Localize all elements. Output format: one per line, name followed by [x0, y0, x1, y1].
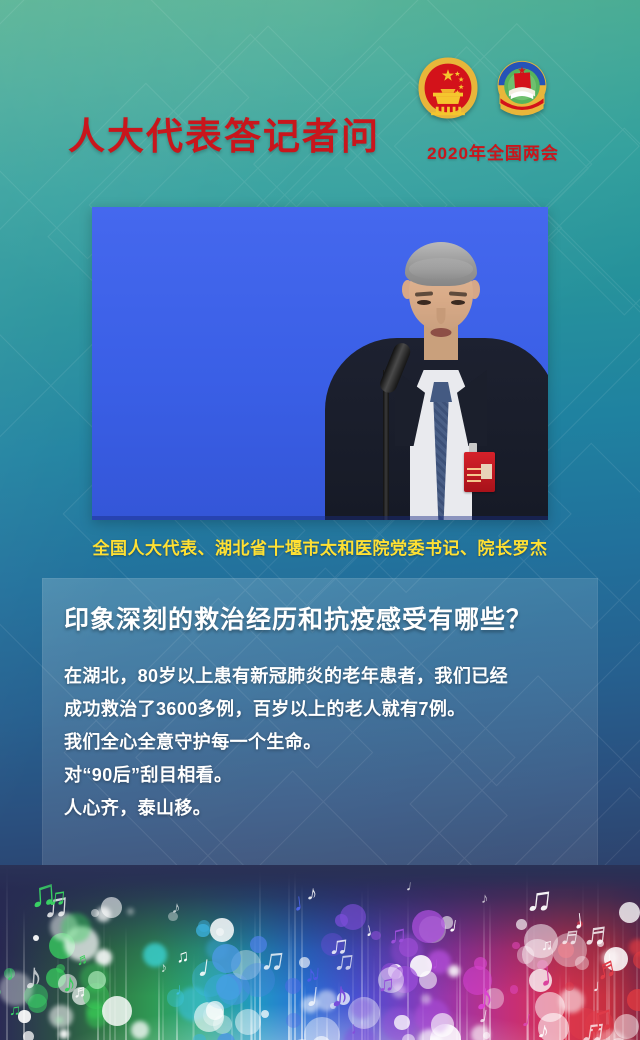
header: 人大代表答记者问 — [0, 0, 640, 200]
music-note-icon: ♫ — [175, 948, 190, 967]
bokeh-dot — [49, 1005, 73, 1029]
music-notes-footer: ♩♫♩♩♩♫♫♪♩♪♩♪♫♩♪♫♩♪♪♫♬♫♩♬♫♩♬♬♪♩♪♬♫♩♬♫♫♩♩♩… — [0, 865, 640, 1040]
light-beam — [114, 950, 116, 1040]
music-note-icon: ♩ — [538, 955, 576, 993]
music-note-icon: ♩ — [175, 981, 192, 998]
bokeh-dot — [206, 1001, 224, 1019]
bokeh-dot — [516, 919, 527, 930]
light-beam — [158, 958, 160, 1040]
mouth — [431, 328, 452, 337]
photo-subject-figure — [316, 220, 548, 520]
quote-line: 成功救治了3600多例，百岁以上的老人就有7例。 — [64, 693, 584, 726]
music-note-icon: ♩ — [571, 904, 601, 934]
music-note-icon: ♬ — [75, 951, 93, 969]
music-note-icon: ♬ — [72, 983, 90, 1001]
music-note-icon: ♬ — [592, 951, 626, 985]
bokeh-dot — [412, 910, 445, 943]
year-tag: 2020年全国两会 — [413, 139, 573, 164]
eye-right — [451, 300, 465, 305]
badge-line — [467, 480, 481, 482]
nose — [437, 308, 446, 324]
bokeh-dot — [614, 1014, 639, 1039]
music-note-icon: ♩ — [432, 955, 449, 972]
photo-caption: 全国人大代表、湖北省十堰市太和医院党委书记、院长罗杰 — [0, 534, 640, 559]
light-beam — [373, 955, 375, 1040]
bokeh-dot — [59, 1029, 69, 1039]
music-note-icon: ♩ — [447, 913, 472, 938]
quote-panel: 印象深刻的救治经历和抗疫感受有哪些？ 在湖北，80岁以上患有新冠肺炎的老年患者，… — [42, 578, 598, 874]
quote-body: 在湖北，80岁以上患有新冠肺炎的老年患者，我们已经成功救治了3600多例，百岁以… — [64, 660, 584, 825]
hair — [405, 242, 477, 286]
music-note-icon: ♫ — [258, 941, 288, 978]
music-note-icon: ♩ — [478, 1003, 505, 1030]
poster: 人大代表答记者问 — [0, 0, 640, 1040]
quote-line: 对“90后”刮目相看。 — [64, 759, 584, 792]
bokeh-dot — [510, 985, 519, 994]
music-note-icon: ♪ — [330, 977, 351, 1015]
eye-left — [417, 300, 431, 305]
bokeh-dot — [198, 920, 210, 932]
footer-top-fade — [0, 865, 640, 891]
music-note-icon: ♫ — [388, 923, 407, 949]
bokeh-dot — [627, 989, 640, 1010]
bokeh-dot — [23, 1031, 34, 1040]
photo-floor-line — [92, 516, 548, 520]
light-beam — [6, 865, 8, 1040]
quote-question: 印象深刻的救治经历和抗疫感受有哪些？ — [64, 600, 532, 636]
bokeh-dot — [419, 971, 437, 989]
quote-line: 在湖北，80岁以上患有新冠肺炎的老年患者，我们已经 — [64, 660, 584, 693]
national-emblem-of-china-icon — [418, 57, 478, 119]
bokeh-dot — [394, 1015, 409, 1030]
light-beam — [162, 975, 164, 1040]
music-note-icon: ♫ — [332, 946, 357, 977]
music-note-icon: ♪ — [305, 963, 317, 987]
badge-line — [467, 468, 481, 470]
music-note-icon: ♪ — [23, 958, 44, 997]
music-note-icon: ♩ — [349, 1018, 369, 1038]
badge-photo — [481, 464, 492, 479]
music-note-icon: ♫ — [9, 1002, 22, 1019]
badge-line — [467, 474, 481, 476]
speaker-photo — [92, 207, 548, 520]
emblem-group — [418, 57, 552, 119]
quote-line: 我们全心全意守护每一个生命。 — [64, 726, 584, 759]
bokeh-dot — [448, 965, 460, 977]
music-note-icon: ♫ — [377, 972, 395, 995]
quote-line: 人心齐，泰山移。 — [64, 792, 584, 825]
bokeh-dot — [210, 918, 234, 942]
music-note-icon: ♩ — [363, 919, 385, 941]
music-note-icon: ♩ — [196, 950, 231, 985]
delegate-badge — [464, 452, 495, 492]
music-note-icon: ♫ — [541, 936, 553, 952]
music-note-icon: ♪ — [481, 892, 489, 907]
music-note-icon: ♫ — [586, 1000, 616, 1039]
music-note-icon: ♩ — [291, 889, 319, 917]
bokeh-dot — [421, 994, 431, 1004]
bokeh-dot — [402, 1034, 415, 1040]
bokeh-dot — [629, 939, 640, 956]
page-title: 人大代表答记者问 — [68, 118, 380, 155]
cppcc-emblem-icon — [492, 57, 552, 119]
bokeh-dot — [193, 1034, 206, 1040]
bokeh-dot — [235, 1009, 261, 1035]
bokeh-dot — [517, 946, 534, 963]
bokeh-dot — [261, 1010, 269, 1018]
